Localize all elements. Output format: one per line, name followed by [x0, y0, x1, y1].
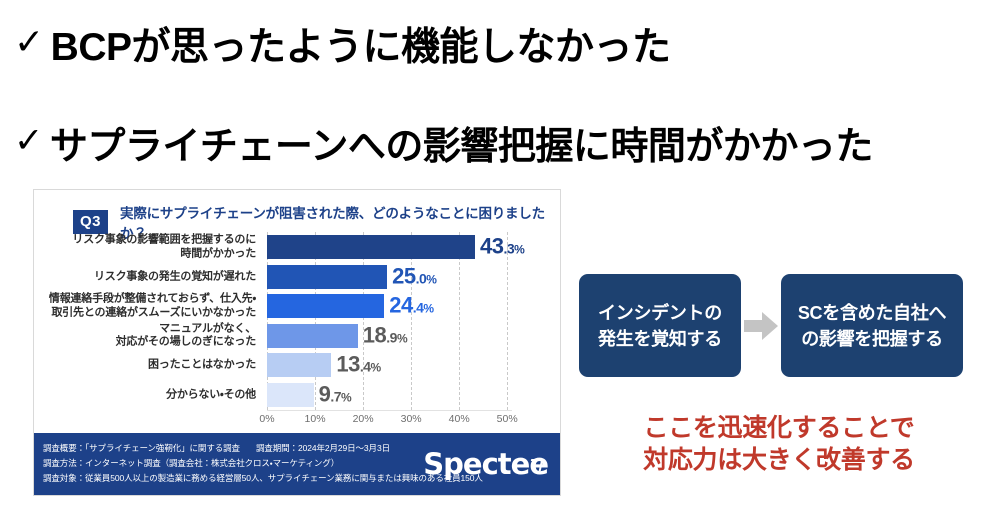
bar-category-label: リスク事象の影響範囲を把握するのに時間がかかった — [34, 234, 256, 261]
bar-value-fraction: .4 — [413, 300, 424, 316]
bar-value-percent-sign: % — [514, 243, 524, 257]
emphasis-note-line-1: ここを迅速化することで — [579, 412, 979, 444]
flow-box-assess-impact: SCを含めた自社へ の影響を把握する — [781, 274, 963, 377]
bar-category-label: 情報連絡手段が整備されておらず、仕入先・取引先との連絡がスムーズにいかなかった — [34, 293, 256, 320]
bar-value-integer: 24 — [389, 293, 412, 318]
bar-value-fraction: .9 — [386, 329, 397, 345]
bar-category-label-line: リスク事象の発生の覚知が遅れた — [34, 270, 256, 284]
bar-row: 情報連絡手段が整備されておらず、仕入先・取引先との連絡がスムーズにいかなかった2… — [34, 292, 560, 320]
emphasis-note: ここを迅速化することで 対応力は大きく改善する — [579, 412, 979, 476]
question-number-badge: Q3 — [73, 210, 108, 234]
bar-value-label: 13.4% — [336, 354, 380, 376]
bar-value-integer: 13 — [336, 352, 359, 377]
survey-result-card: Q3 実際にサプライチェーンが阻害された際、どのようなことに困りましたか？ リス… — [33, 189, 561, 496]
bar-value-integer: 18 — [363, 322, 386, 347]
bar-value-fraction: .3 — [503, 241, 514, 257]
x-axis-tick-label: 20% — [353, 413, 374, 425]
bar-value-label: 9.7% — [319, 383, 352, 405]
check-icon: ✓ — [14, 24, 44, 60]
bar-category-label: 分からない・その他 — [34, 388, 256, 402]
bar-value-label: 24.4% — [389, 295, 433, 317]
bar-value-fraction: .0 — [416, 270, 427, 286]
bar — [267, 235, 475, 259]
bar-row: 分からない・その他9.7% — [34, 381, 560, 409]
flow-box-1-line-1: インシデントの — [598, 300, 722, 326]
bar-category-label-line: 情報連絡手段が整備されておらず、仕入先・ — [34, 293, 256, 307]
arrow-right-icon — [744, 311, 778, 341]
headline-bullet-2: ✓ サプライチェーンへの影響把握に時間がかかった — [14, 115, 873, 170]
bar-category-label-line: 取引先との連絡がスムーズにいかなかった — [34, 306, 256, 320]
flow-box-1-line-2: 発生を覚知する — [598, 326, 722, 352]
bar-value-percent-sign: % — [423, 302, 433, 316]
bar-row: マニュアルがなく、対応がその場しのぎになった18.9% — [34, 322, 560, 350]
bar-category-label: 困ったことはなかった — [34, 358, 256, 372]
survey-meta-text: 調査概要：「サプライチェーン強靭化」に関する調査調査期間：2024年2月29日～… — [43, 441, 483, 486]
bar — [267, 294, 384, 318]
x-axis-tick-label: 30% — [401, 413, 422, 425]
headline-text: サプライチェーンへの影響把握に時間がかかった — [50, 115, 873, 170]
bar-value-label: 25.0% — [392, 265, 436, 287]
x-axis-tick-label: 10% — [305, 413, 326, 425]
bar — [267, 324, 358, 348]
x-axis-line — [267, 410, 512, 411]
bar-value-fraction: .4 — [360, 359, 371, 375]
emphasis-note-line-2: 対応力は大きく改善する — [579, 444, 979, 476]
bar-category-label-line: 対応がその場しのぎになった — [34, 336, 256, 350]
bar-value-integer: 25 — [392, 263, 415, 288]
bar-value-percent-sign: % — [371, 361, 381, 375]
check-icon: ✓ — [14, 123, 43, 158]
bar-value-integer: 43 — [480, 234, 503, 259]
survey-target: 調査対象：従業員500人以上の製造業に務める経営層50人、サプライチェーン業務に… — [43, 471, 483, 486]
x-axis-tick-label: 0% — [259, 413, 274, 425]
spectee-logo: Spectee — [423, 447, 548, 481]
bar-value-percent-sign: % — [341, 390, 351, 404]
bar-category-label: リスク事象の発生の覚知が遅れた — [34, 270, 256, 284]
bar — [267, 383, 314, 407]
bar-category-label: マニュアルがなく、対応がその場しのぎになった — [34, 322, 256, 349]
bar-category-label-line: マニュアルがなく、 — [34, 322, 256, 336]
headline-text: BCPが思ったように機能しなかった — [51, 16, 671, 72]
bar-value-percent-sign: % — [426, 272, 436, 286]
flow-box-2-line-1: SCを含めた自社へ — [798, 300, 946, 326]
x-axis-tick-label: 40% — [449, 413, 470, 425]
survey-meta-line-1: 調査概要：「サプライチェーン強靭化」に関する調査調査期間：2024年2月29日～… — [43, 441, 483, 456]
bar-category-label-line: 分からない・その他 — [34, 388, 256, 402]
bar-category-label-line: リスク事象の影響範囲を把握するのに — [34, 234, 256, 248]
headline-bullet-1: ✓ BCPが思ったように機能しなかった — [14, 16, 671, 72]
bar-value-label: 43.3% — [480, 236, 524, 258]
bar-row: リスク事象の発生の覚知が遅れた25.0% — [34, 263, 560, 291]
flow-box-2-line-2: の影響を把握する — [798, 326, 946, 352]
bar-chart: リスク事象の影響範囲を把握するのに時間がかかった43.3%リスク事象の発生の覚知… — [34, 232, 560, 432]
bar — [267, 353, 331, 377]
bar-value-integer: 9 — [319, 381, 331, 406]
bar-row: 困ったことはなかった13.4% — [34, 351, 560, 379]
survey-period: 調査期間：2024年2月29日～3月3日 — [256, 443, 390, 453]
survey-method: 調査方法：インターネット調査（調査会社：株式会社クロス・マーケティング） — [43, 456, 483, 471]
flow-box-detect-incident: インシデントの 発生を覚知する — [579, 274, 741, 377]
bar-category-label-line: 時間がかかった — [34, 247, 256, 261]
bar-value-percent-sign: % — [397, 331, 407, 345]
bar — [267, 265, 387, 289]
bar-category-label-line: 困ったことはなかった — [34, 358, 256, 372]
logo-tick-icon — [529, 459, 544, 471]
x-axis-tick-label: 50% — [497, 413, 518, 425]
bar-value-fraction: .7 — [330, 388, 341, 404]
survey-overview: 調査概要：「サプライチェーン強靭化」に関する調査 — [43, 443, 240, 453]
bar-value-label: 18.9% — [363, 324, 407, 346]
card-footer-band: 調査概要：「サプライチェーン強靭化」に関する調査調査期間：2024年2月29日～… — [34, 433, 560, 495]
bar-row: リスク事象の影響範囲を把握するのに時間がかかった43.3% — [34, 233, 560, 261]
